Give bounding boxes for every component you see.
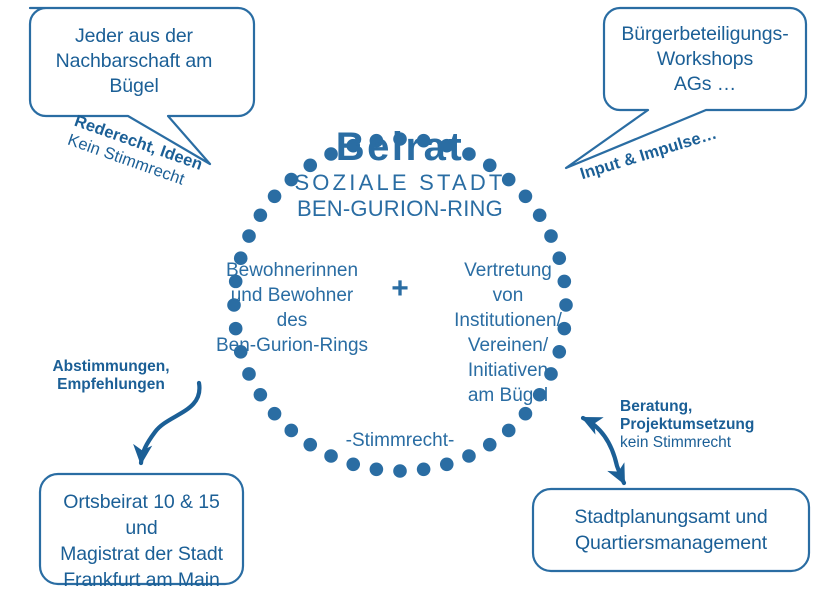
column-residents: Bewohnerinnen und Bewohner des Ben-Gurio… — [206, 258, 378, 358]
bubble-top-right-text: Bürgerbeteiligungs- Workshops AGs … — [606, 22, 804, 97]
column-institutions: Vertretung von Institutionen/ Vereinen/ … — [422, 258, 594, 408]
box-bottom-right-text: Stadtplanungsamt und Quartiersmanagement — [537, 504, 805, 556]
column-residents-line-3: des — [206, 308, 378, 333]
bubble-tr-line-2: Workshops — [606, 47, 804, 72]
column-institutions-line-4: Vereinen/ — [422, 333, 594, 358]
column-institutions-line-5: Initiativen — [422, 358, 594, 383]
caption-beratung-line-2: Projektumsetzung — [620, 416, 795, 434]
column-institutions-line-3: Institutionen/ — [422, 308, 594, 333]
center-columns: Bewohnerinnen und Bewohner des Ben-Gurio… — [205, 258, 595, 408]
bubble-tl-line-2: Nachbarschaft am — [36, 49, 232, 74]
center-heading-group: Beirat SOZIALE STADT BEN-GURION-RING — [230, 125, 570, 222]
page-title: Beirat — [230, 125, 570, 169]
column-residents-line-1: Bewohnerinnen — [206, 258, 378, 283]
bubble-tl-line-3: Bügel — [36, 74, 232, 99]
box-br-line-2: Quartiersmanagement — [537, 530, 805, 556]
column-institutions-line-1: Vertretung — [422, 258, 594, 283]
bubble-tl-line-1: Jeder aus der — [36, 24, 232, 49]
diagram-canvas: Jeder aus der Nachbarschaft am Bügel Bür… — [0, 0, 820, 600]
box-bl-line-2: und — [44, 515, 239, 541]
plus-symbol: + — [378, 258, 422, 301]
text-layer: Jeder aus der Nachbarschaft am Bügel Bür… — [0, 0, 820, 600]
caption-beratung-line-1: Beratung, — [620, 398, 795, 416]
box-bl-line-1: Ortsbeirat 10 & 15 — [44, 489, 239, 515]
caption-input-impulse: Input & Impulse… — [578, 125, 719, 185]
caption-abstimmungen-line-2: Empfehlungen — [36, 376, 186, 394]
center-footer-stimmrecht: -Stimmrecht- — [280, 430, 520, 452]
caption-abstimmungen: Abstimmungen, Empfehlungen — [36, 358, 186, 394]
column-institutions-line-6: am Bügel — [422, 383, 594, 408]
bubble-tr-line-3: AGs … — [606, 72, 804, 97]
box-br-line-1: Stadtplanungsamt und — [537, 504, 805, 530]
column-residents-line-2: und Bewohner — [206, 283, 378, 308]
bubble-tr-line-1: Bürgerbeteiligungs- — [606, 22, 804, 47]
caption-abstimmungen-line-1: Abstimmungen, — [36, 358, 186, 376]
caption-beratung-line-3: kein Stimmrecht — [620, 434, 795, 452]
subtitle-soziale-stadt: SOZIALE STADT — [230, 169, 570, 196]
box-bl-line-3: Magistrat der Stadt — [44, 541, 239, 567]
caption-rederecht: Rederecht, Ideen Kein Stimmrecht — [65, 112, 205, 194]
box-bottom-left-text: Ortsbeirat 10 & 15 und Magistrat der Sta… — [44, 489, 239, 593]
column-institutions-line-2: von — [422, 283, 594, 308]
column-residents-line-4: Ben-Gurion-Rings — [206, 333, 378, 358]
box-bl-line-4: Frankfurt am Main — [44, 567, 239, 593]
bubble-top-left-text: Jeder aus der Nachbarschaft am Bügel — [36, 24, 232, 99]
caption-beratung: Beratung, Projektumsetzung kein Stimmrec… — [620, 398, 795, 452]
subtitle-ben-gurion-ring: BEN-GURION-RING — [230, 196, 570, 222]
caption-input-impulse-bold: Input & Impulse… — [578, 125, 719, 185]
